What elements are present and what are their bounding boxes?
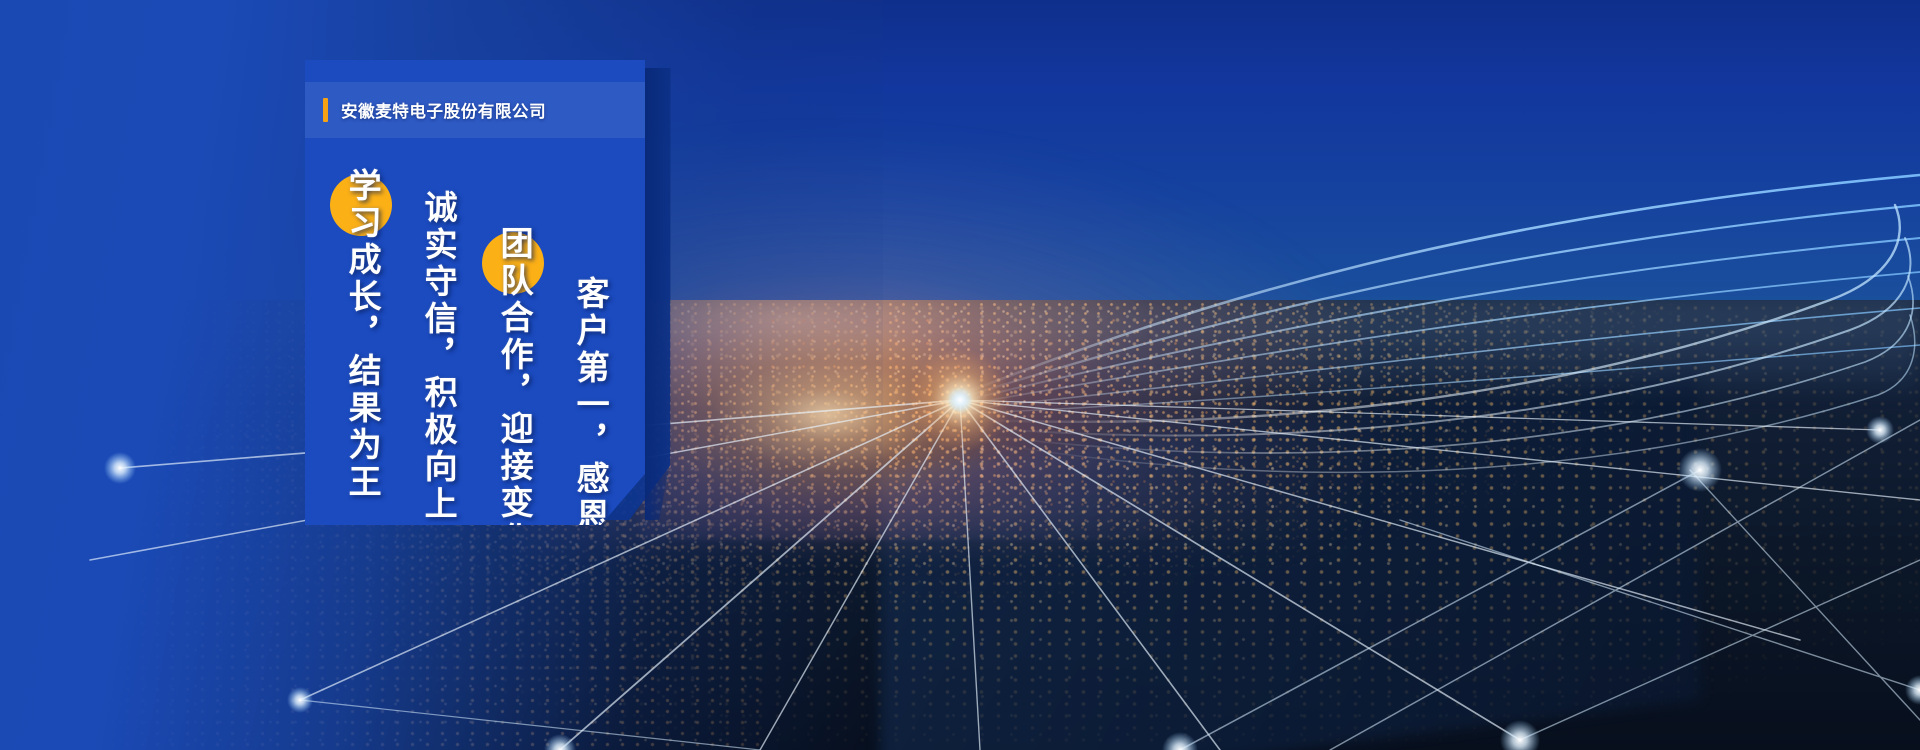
slogan-columns: 客户第一，感恩奉献 团队合作，迎接变化 诚实守信，积极向上 学习成长，结果为王 (305, 168, 645, 576)
page-title: 安徽麦特电子股份有限公司 (341, 98, 546, 122)
slogan-text: 团队合作，迎接变化 (494, 226, 532, 559)
banner-root: 安徽麦特电子股份有限公司 客户第一，感恩奉献 团队合作，迎接变化 诚实守信，积极… (0, 0, 1920, 750)
slogan-text: 学习成长，结果为王 (342, 168, 380, 501)
company-info-card: 安徽麦特电子股份有限公司 客户第一，感恩奉献 团队合作，迎接变化 诚实守信，积极… (305, 60, 645, 525)
slogan-column-honesty: 诚实守信，积极向上 (399, 168, 475, 523)
slogan-text: 诚实守信，积极向上 (418, 190, 456, 523)
slogan-column-team-work: 团队合作，迎接变化 (475, 168, 551, 559)
card-header: 安徽麦特电子股份有限公司 (305, 82, 645, 138)
accent-bar-icon (323, 98, 328, 122)
slogan-column-learning-growth: 学习成长，结果为王 (323, 168, 399, 501)
card-right-edge (645, 68, 671, 520)
